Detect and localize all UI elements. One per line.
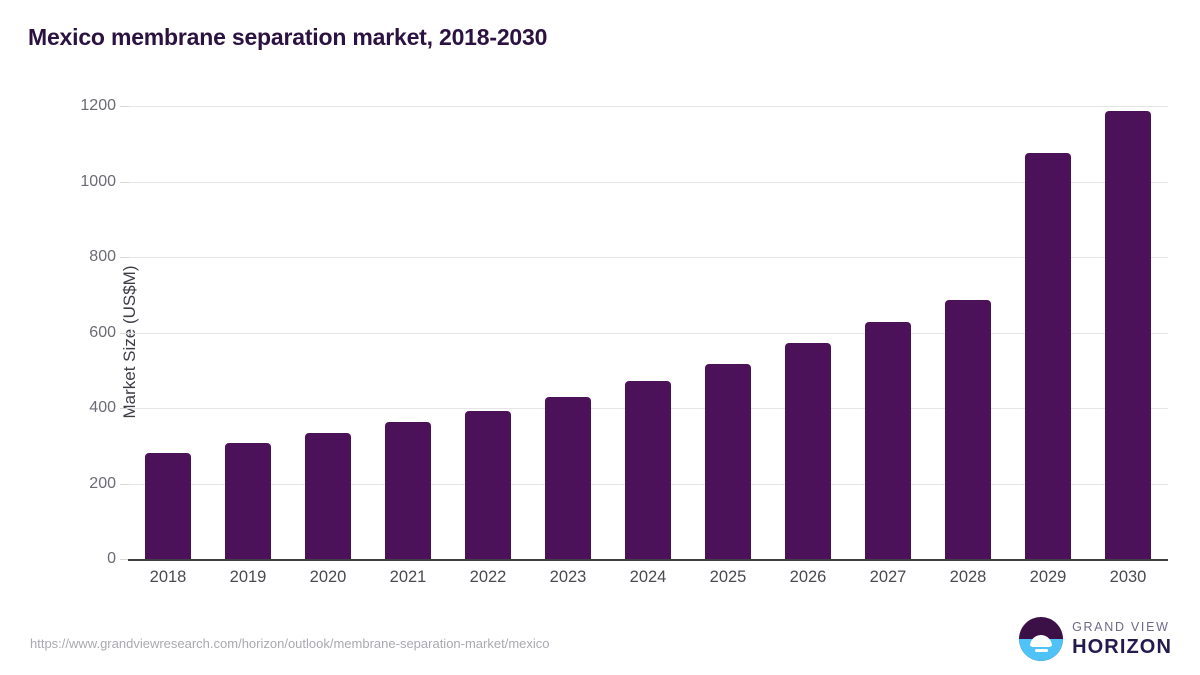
chart-canvas: Mexico membrane separation market, 2018-…: [0, 0, 1200, 675]
bar-2020[interactable]: [305, 433, 351, 559]
bar-2023[interactable]: [545, 397, 591, 559]
x-tick-label: 2024: [608, 568, 688, 587]
logo-line-1: GRAND VIEW: [1072, 621, 1172, 634]
y-tick-label: 400: [38, 399, 116, 417]
bar-2027[interactable]: [865, 322, 911, 559]
plot-wrapper: Market Size (US$M) 020040060080010001200…: [0, 0, 1200, 675]
x-tick-label: 2022: [448, 568, 528, 587]
source-url[interactable]: https://www.grandviewresearch.com/horizo…: [30, 636, 550, 651]
y-tick-mark: [120, 182, 129, 183]
y-tick-mark: [120, 257, 129, 258]
bar-2021[interactable]: [385, 422, 431, 559]
y-axis-title: Market Size (US$M): [120, 192, 140, 492]
bar-2019[interactable]: [225, 443, 271, 559]
bar-2022[interactable]: [465, 411, 511, 559]
gridline: [128, 257, 1168, 258]
bar-2026[interactable]: [785, 343, 831, 559]
x-tick-label: 2029: [1008, 568, 1088, 587]
y-tick-label: 600: [38, 324, 116, 342]
y-tick-mark: [120, 484, 129, 485]
gridline: [128, 106, 1168, 107]
x-tick-label: 2028: [928, 568, 1008, 587]
logo-text: GRAND VIEW HORIZON: [1072, 621, 1172, 658]
y-tick-label: 800: [38, 248, 116, 266]
x-tick-label: 2025: [688, 568, 768, 587]
x-tick-label: 2027: [848, 568, 928, 587]
gridline: [128, 333, 1168, 334]
x-tick-label: 2021: [368, 568, 448, 587]
y-tick-mark: [120, 408, 129, 409]
grand-view-horizon-logo[interactable]: GRAND VIEW HORIZON: [1019, 617, 1172, 661]
logo-ray-2: [1035, 649, 1048, 652]
bar-2029[interactable]: [1025, 153, 1071, 559]
x-tick-label: 2018: [128, 568, 208, 587]
logo-ray-1: [1031, 644, 1051, 647]
logo-line-2: HORIZON: [1072, 637, 1172, 657]
bar-2025[interactable]: [705, 364, 751, 559]
bar-2018[interactable]: [145, 453, 191, 559]
x-tick-label: 2023: [528, 568, 608, 587]
y-tick-mark: [120, 106, 129, 107]
y-tick-label: 0: [38, 550, 116, 568]
y-tick-label: 1200: [38, 97, 116, 115]
x-axis-line: [128, 559, 1168, 561]
y-tick-label: 200: [38, 475, 116, 493]
bar-2024[interactable]: [625, 381, 671, 559]
x-tick-label: 2026: [768, 568, 848, 587]
horizon-sun-icon: [1019, 617, 1063, 661]
y-tick-label: 1000: [38, 173, 116, 191]
x-tick-label: 2019: [208, 568, 288, 587]
bar-2028[interactable]: [945, 300, 991, 559]
x-tick-label: 2030: [1088, 568, 1168, 587]
gridline: [128, 182, 1168, 183]
bar-2030[interactable]: [1105, 111, 1151, 559]
y-tick-mark: [120, 333, 129, 334]
x-tick-label: 2020: [288, 568, 368, 587]
